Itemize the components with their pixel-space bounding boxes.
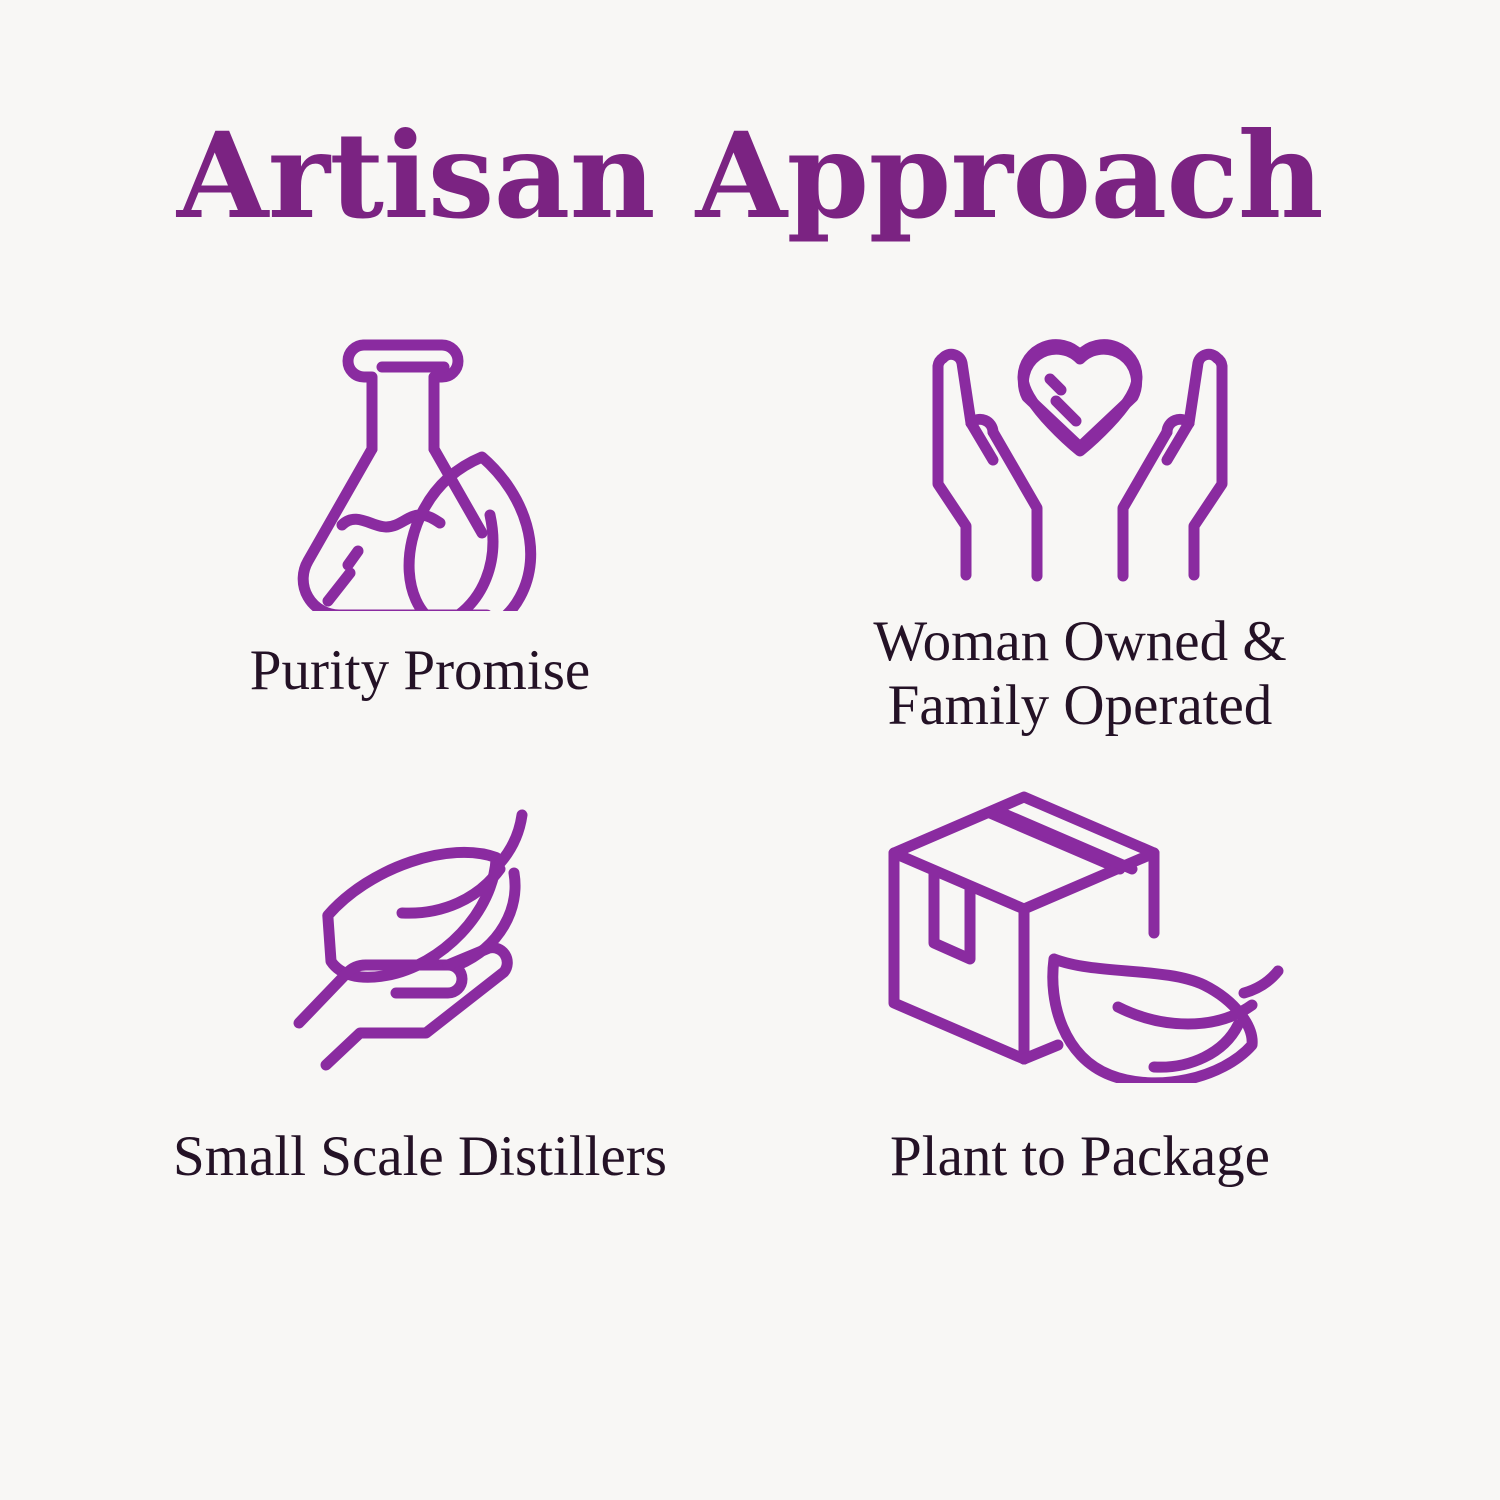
feature-label: Small Scale Distillers	[173, 1125, 667, 1189]
hand-leaf-icon	[289, 785, 551, 1085]
feature-item-purity-promise: Purity Promise	[90, 317, 750, 737]
feature-label: Woman Owned & Family Operated	[873, 610, 1286, 738]
feature-label: Plant to Package	[890, 1125, 1270, 1189]
box-leaf-icon	[872, 785, 1288, 1085]
feature-item-small-scale-distillers: Small Scale Distillers	[90, 785, 750, 1205]
feature-item-plant-to-package: Plant to Package	[750, 785, 1410, 1205]
artisan-approach-panel: Artisan Approach	[0, 0, 1500, 1500]
feature-item-woman-owned: Woman Owned & Family Operated	[750, 317, 1410, 737]
feature-grid: Purity Promise	[90, 317, 1410, 1205]
hands-heart-icon	[919, 317, 1241, 587]
page-title: Artisan Approach	[177, 0, 1323, 239]
flask-leaf-icon	[286, 317, 554, 613]
feature-label: Purity Promise	[250, 639, 590, 703]
